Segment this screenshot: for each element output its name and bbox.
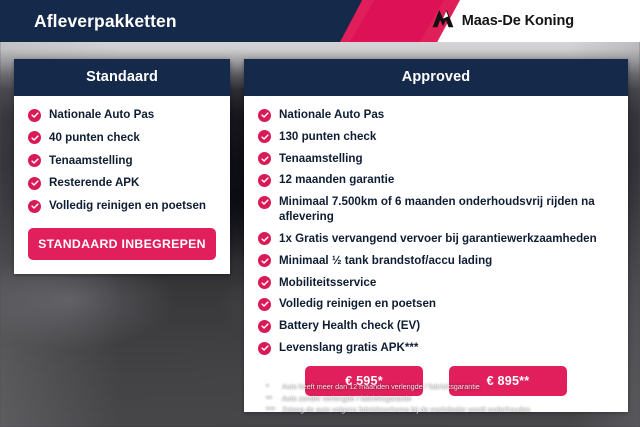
check-circle-icon xyxy=(258,298,271,311)
check-circle-icon xyxy=(258,174,271,187)
footnote-marker: ** xyxy=(266,393,282,405)
check-circle-icon xyxy=(28,177,41,190)
check-circle-icon xyxy=(258,342,271,355)
feature-label: Nationale Auto Pas xyxy=(49,108,154,123)
list-item: Tenaamstelling xyxy=(28,154,216,169)
footnote-row: * Auto heeft meer dan 12 maanden verleng… xyxy=(266,381,626,393)
approved-card-heading: Approved xyxy=(244,59,628,96)
list-item: Tenaamstelling xyxy=(258,152,614,167)
feature-label: Levenslang gratis APK*** xyxy=(279,341,418,356)
page-title: Afleverpakketten xyxy=(34,0,177,42)
feature-label: Battery Health check (EV) xyxy=(279,319,420,334)
footnotes: * Auto heeft meer dan 12 maanden verleng… xyxy=(266,381,626,416)
feature-label: 130 punten check xyxy=(279,130,376,145)
standard-button-row: STANDAARD INBEGREPEN xyxy=(28,228,216,260)
feature-label: 12 maanden garantie xyxy=(279,173,394,188)
list-item: Mobiliteitsservice xyxy=(258,276,614,291)
list-item: 40 punten check xyxy=(28,131,216,146)
footnote-row: ** Auto zonder verlengde / fabrieksgaran… xyxy=(266,393,626,405)
feature-label: Volledig reinigen en poetsen xyxy=(49,199,206,214)
check-circle-icon xyxy=(28,109,41,122)
feature-label: Resterende APK xyxy=(49,176,139,191)
check-circle-icon xyxy=(28,200,41,213)
approved-package-card: Approved Nationale Auto Pas 130 punten c… xyxy=(244,59,628,412)
list-item: Battery Health check (EV) xyxy=(258,319,614,334)
list-item: Nationale Auto Pas xyxy=(28,108,216,123)
list-item: 130 punten check xyxy=(258,130,614,145)
feature-label: Tenaamstelling xyxy=(49,154,133,169)
feature-label: Minimaal ½ tank brandstof/accu lading xyxy=(279,254,492,269)
check-circle-icon xyxy=(258,152,271,165)
check-circle-icon xyxy=(258,320,271,333)
check-circle-icon xyxy=(28,154,41,167)
approved-feature-list: Nationale Auto Pas 130 punten check Tena… xyxy=(258,108,614,356)
list-item: Minimaal 7.500km of 6 maanden onderhouds… xyxy=(258,195,614,225)
check-circle-icon xyxy=(258,276,271,289)
list-item: Minimaal ½ tank brandstof/accu lading xyxy=(258,254,614,269)
list-item: 12 maanden garantie xyxy=(258,173,614,188)
list-item: Nationale Auto Pas xyxy=(258,108,614,123)
footnote-row: *** Zolang de auto volgens fabrieksschem… xyxy=(266,404,626,416)
list-item: Levenslang gratis APK*** xyxy=(258,341,614,356)
standard-card-heading: Standaard xyxy=(14,59,230,96)
check-circle-icon xyxy=(258,232,271,245)
list-item: Volledig reinigen en poetsen xyxy=(28,199,216,214)
check-circle-icon xyxy=(258,109,271,122)
feature-label: Nationale Auto Pas xyxy=(279,108,384,123)
feature-label: Tenaamstelling xyxy=(279,152,363,167)
feature-label: 1x Gratis vervangend vervoer bij garanti… xyxy=(279,232,597,247)
brand-name: Maas-De Koning xyxy=(462,13,574,29)
approved-card-body: Nationale Auto Pas 130 punten check Tena… xyxy=(244,96,628,412)
brand-logo: Maas-De Koning xyxy=(431,0,574,42)
header-banner: Afleverpakketten Maas-De Koning xyxy=(0,0,640,42)
check-circle-icon xyxy=(258,254,271,267)
standard-feature-list: Nationale Auto Pas 40 punten check Tenaa… xyxy=(28,108,216,214)
feature-label: Minimaal 7.500km of 6 maanden onderhouds… xyxy=(279,195,614,225)
feature-label: Mobiliteitsservice xyxy=(279,276,376,291)
check-circle-icon xyxy=(28,131,41,144)
maas-de-koning-m-mark-icon xyxy=(431,9,455,33)
footnote-text: Auto heeft meer dan 12 maanden verlengde… xyxy=(282,381,626,393)
footnote-marker: * xyxy=(266,381,282,393)
standard-card-body: Nationale Auto Pas 40 punten check Tenaa… xyxy=(14,96,230,274)
footnote-marker: *** xyxy=(266,404,282,416)
feature-label: Volledig reinigen en poetsen xyxy=(279,297,436,312)
footnote-text: Auto zonder verlengde / fabrieksgarantie xyxy=(282,393,626,405)
standard-package-card: Standaard Nationale Auto Pas 40 punten c… xyxy=(14,59,230,274)
list-item: 1x Gratis vervangend vervoer bij garanti… xyxy=(258,232,614,247)
standard-included-button[interactable]: STANDAARD INBEGREPEN xyxy=(28,228,216,260)
delivery-packages-slide: Afleverpakketten Maas-De Koning Standaar… xyxy=(0,0,640,427)
feature-label: 40 punten check xyxy=(49,131,140,146)
list-item: Volledig reinigen en poetsen xyxy=(258,297,614,312)
footnote-text: Zolang de auto volgens fabrieksschema bi… xyxy=(282,404,626,416)
check-circle-icon xyxy=(258,196,271,209)
check-circle-icon xyxy=(258,130,271,143)
list-item: Resterende APK xyxy=(28,176,216,191)
